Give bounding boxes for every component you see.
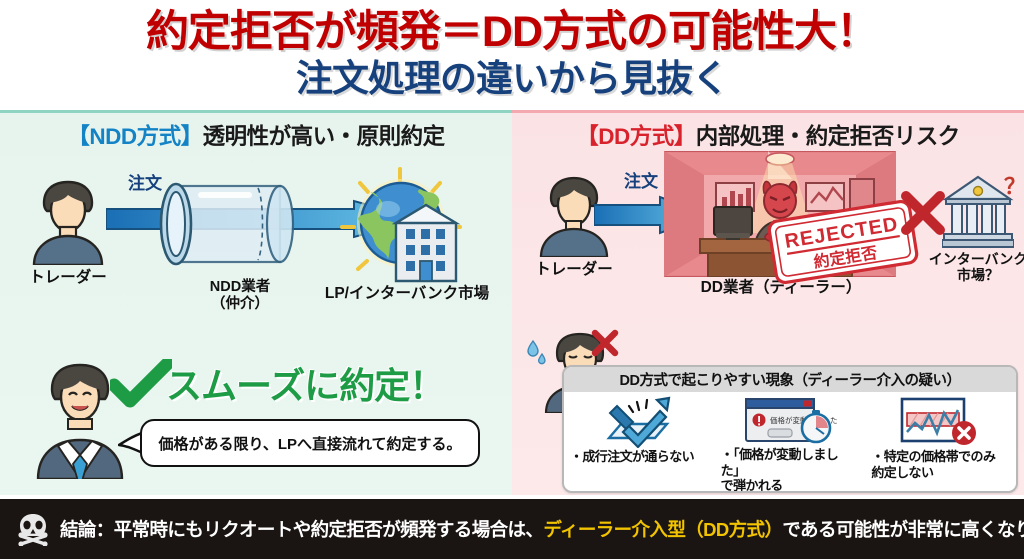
ndd-order-label: 注文 [128,169,162,194]
ndd-result-block: スムーズに約定！ 価格がある限り、LPへ直接流れて約定する。 [0,353,512,493]
red-x-icon [900,191,946,235]
ndd-flow-diagram: トレーダー 注文 NDD業者 （仲介 [0,161,512,321]
dd-heading-rest: 内部処理・約定拒否リスク [696,124,960,149]
price-band-chart-icon [898,395,984,449]
ndd-result-headline: スムーズに約定！ [166,357,444,409]
comparison-panels: 【NDD方式】透明性が高い・原則約定 トレーダー 注文 [0,110,1024,495]
dd-market-caption: インターバンク 市場？ [928,251,1024,283]
footer-text: 結論：平常時にもリクオートや約定拒否が頻発する場合は、ディーラー介入型（DD方式… [60,516,1024,542]
ndd-result-bubble: 価格がある限り、LPへ直接流れて約定する。 [140,419,480,467]
skull-and-crossbones-icon [16,512,50,546]
ndd-heading-rest: 透明性が高い・原則約定 [203,124,445,149]
title-line-1: 約定拒否が頻発＝DD方式の可能性大！ [146,10,878,56]
dd-trader-caption: トレーダー [514,261,634,279]
list-item-label: ・「価格が変動しました」 で弾かれる [715,447,866,493]
list-item-label: ・特定の価格帯でのみ 約定しない [865,449,1016,480]
person-icon [22,173,114,265]
ndd-market-caption: LP/インターバンク市場 [316,285,498,303]
dd-phenomena-box: DD方式で起こりやすい現象（ディーラー介入の疑い） [562,365,1018,493]
ndd-broker-caption-line2: （仲介） [180,296,300,313]
price-changed-dialog-icon: 価格が変動しました [742,395,838,447]
dd-tag-label: 【DD方式】 [576,124,696,149]
ndd-tag-label: 【NDD方式】 [67,124,202,149]
ndd-panel-heading: 【NDD方式】透明性が高い・原則約定 [0,119,512,151]
title-line-2: 注文処理の違いから見抜く [296,58,728,99]
check-mark-icon [110,359,172,409]
rejected-market-order-icon [599,395,679,449]
list-item-label: ・成行注文が通らない [564,449,715,465]
footer-text-highlight: ディーラー介入型（DD方式） [543,519,782,540]
title-block: 約定拒否が頻発＝DD方式の可能性大！ 注文処理の違いから見抜く [0,0,1024,110]
market-question-mark: ？ [1004,169,1024,201]
dd-market-caption-line2: 市場？ [928,267,1024,283]
pipe-icon [158,176,298,272]
footer-text-before: 結論：平常時にもリクオートや約定拒否が頻発する場合は、 [60,519,543,540]
globe-icon [336,165,466,285]
list-item: ・特定の価格帯でのみ 約定しない [865,392,1016,491]
list-item: ・成行注文が通らない [564,392,715,491]
dd-phenomena-header: DD方式で起こりやすい現象（ディーラー介入の疑い） [564,367,1016,392]
footer-text-after: である可能性が非常に高くなります。 [782,519,1024,540]
ndd-panel: 【NDD方式】透明性が高い・原則約定 トレーダー 注文 [0,110,512,495]
infographic-root: 約定拒否が頻発＝DD方式の可能性大！ 注文処理の違いから見抜く 【NDD方式】透… [0,0,1024,559]
red-x-icon [590,329,620,357]
list-item: 価格が変動しました ・「価格が変動しました」 で弾かれる [715,392,866,491]
dd-panel: 【DD方式】内部処理・約定拒否リスク トレーダー 注文 [512,110,1024,495]
dd-order-label: 注文 [624,167,658,192]
dd-market-caption-line1: インターバンク [928,251,1024,267]
footer-conclusion-bar: 結論：平常時にもリクオートや約定拒否が頻発する場合は、ディーラー介入型（DD方式… [0,499,1024,559]
ndd-broker-caption-line1: NDD業者 [180,279,300,296]
dd-panel-heading: 【DD方式】内部処理・約定拒否リスク [512,119,1024,151]
dd-flow-diagram: トレーダー 注文 [512,161,1024,321]
ndd-broker-caption: NDD業者 （仲介） [180,279,300,312]
dd-phenomena-list: ・成行注文が通らない 価格が変動しました [564,392,1016,491]
ndd-trader-caption: トレーダー [6,269,130,287]
